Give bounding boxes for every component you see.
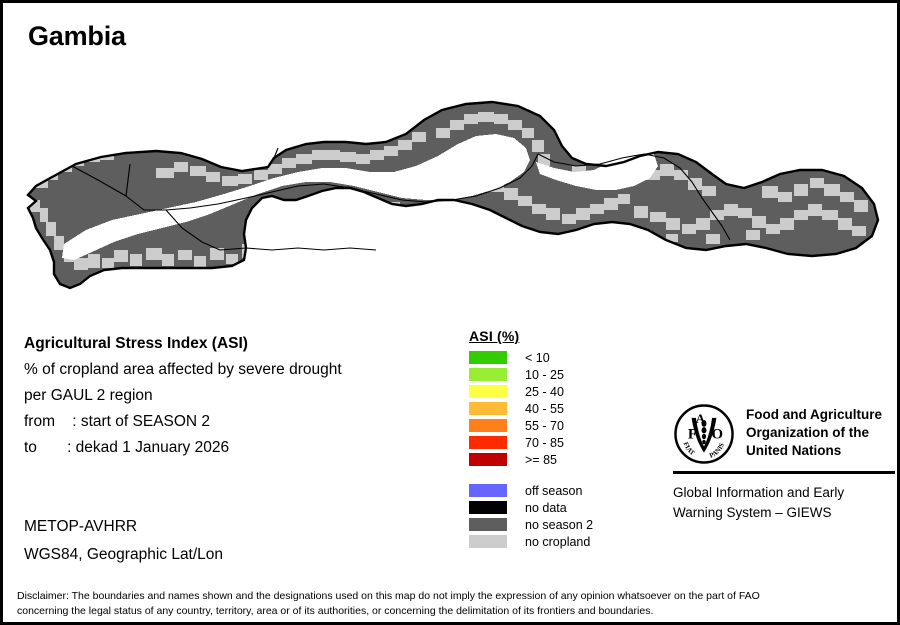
legend-item-no-season2[interactable]: no season 2 [469, 516, 593, 533]
map-canvas[interactable] [6, 58, 900, 298]
legend-item-off-season[interactable]: off season [469, 482, 593, 499]
fao-name-line-1: Food and Agriculture [746, 406, 882, 424]
map-fill-layer [6, 58, 900, 298]
desc-period-to: to : dekad 1 January 2026 [24, 435, 454, 461]
description-block: Agricultural Stress Index (ASI) % of cro… [24, 331, 454, 461]
disclaimer: Disclaimer: The boundaries and names sho… [17, 589, 887, 619]
fao-name-line-2: Organization of the [746, 424, 882, 442]
fao-logo-icon: F A O FIAT PANIS [673, 403, 735, 465]
legend-label-10-25: 10 - 25 [525, 368, 564, 382]
legend-item-lt10[interactable]: < 10 [469, 349, 593, 366]
svg-text:O: O [711, 426, 723, 442]
legend-title: ASI (%) [469, 328, 593, 344]
fao-name-line-3: United Nations [746, 442, 882, 460]
legend-label-25-40: 25 - 40 [525, 385, 564, 399]
legend-swatch-no-cropland [469, 535, 507, 548]
giews-line-1: Global Information and Early [673, 483, 895, 503]
legend-item-70-85[interactable]: 70 - 85 [469, 434, 593, 451]
disclaimer-line-2: concerning the legal status of any count… [17, 604, 887, 619]
legend: ASI (%) < 10 10 - 25 25 - 40 40 - 55 55 … [469, 328, 593, 550]
legend-swatch-55-70 [469, 419, 507, 432]
legend-item-no-data[interactable]: no data [469, 499, 593, 516]
page-title: Gambia [28, 23, 126, 50]
projection-label: WGS84, Geographic Lat/Lon [24, 541, 223, 569]
legend-label-no-season2: no season 2 [525, 518, 593, 532]
map-poster: Gambia [0, 0, 900, 625]
legend-swatch-10-25 [469, 368, 507, 381]
legend-item-10-25[interactable]: 10 - 25 [469, 366, 593, 383]
legend-label-40-55: 40 - 55 [525, 402, 564, 416]
legend-label-no-cropland: no cropland [525, 535, 590, 549]
svg-text:F: F [688, 426, 697, 442]
legend-label-55-70: 55 - 70 [525, 419, 564, 433]
legend-item-no-cropland[interactable]: no cropland [469, 533, 593, 550]
desc-heading: Agricultural Stress Index (ASI) [24, 331, 454, 357]
legend-swatch-lt10 [469, 351, 507, 364]
desc-line-1: % of cropland area affected by severe dr… [24, 357, 454, 383]
sensor-label: METOP-AVHRR [24, 513, 223, 541]
giews-label: Global Information and Early Warning Sys… [673, 483, 895, 523]
legend-swatch-70-85 [469, 436, 507, 449]
legend-item-40-55[interactable]: 40 - 55 [469, 400, 593, 417]
legend-label-70-85: 70 - 85 [525, 436, 564, 450]
legend-item-55-70[interactable]: 55 - 70 [469, 417, 593, 434]
legend-item-25-40[interactable]: 25 - 40 [469, 383, 593, 400]
legend-swatch-no-data [469, 501, 507, 514]
desc-period-from: from : start of SEASON 2 [24, 409, 454, 435]
legend-swatch-off-season [469, 484, 507, 497]
legend-label-no-data: no data [525, 501, 567, 515]
legend-spacer [469, 468, 593, 482]
disclaimer-line-1: Disclaimer: The boundaries and names sho… [17, 589, 887, 604]
fao-divider [673, 471, 895, 474]
source-block: METOP-AVHRR WGS84, Geographic Lat/Lon [24, 513, 223, 569]
legend-label-gte85: >= 85 [525, 453, 557, 467]
desc-line-2: per GAUL 2 region [24, 383, 454, 409]
svg-text:A: A [696, 411, 706, 426]
legend-swatch-gte85 [469, 453, 507, 466]
legend-swatch-no-season2 [469, 518, 507, 531]
legend-label-off-season: off season [525, 484, 582, 498]
legend-label-lt10: < 10 [525, 351, 550, 365]
legend-swatch-25-40 [469, 385, 507, 398]
giews-line-2: Warning System – GIEWS [673, 503, 895, 523]
legend-swatch-40-55 [469, 402, 507, 415]
legend-item-gte85[interactable]: >= 85 [469, 451, 593, 468]
fao-branding: F A O FIAT PANIS Food and Agriculture Or… [673, 403, 895, 523]
fao-organization-name: Food and Agriculture Organization of the… [746, 403, 882, 460]
